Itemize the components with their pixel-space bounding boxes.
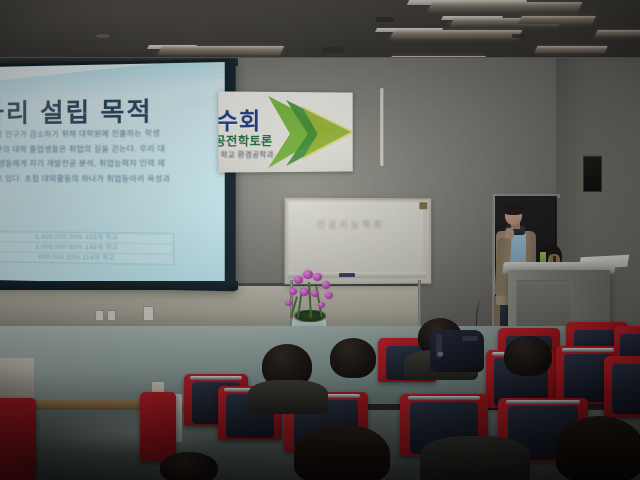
orchid-bloom [303,270,313,279]
orchid-bloom [285,300,292,306]
ceiling-light-fixture [594,30,640,37]
whiteboard-writing: 인공지능학회 [317,218,385,231]
ceiling-light-fixture [158,46,284,55]
projection-screen: 동아리 설립 목적 행해고 전공 인구가 감소하기 위해 대학원에 진출하는 학… [0,59,236,292]
audience-head [160,452,218,480]
presenter-hand [505,228,514,239]
orchid-bloom [300,288,309,296]
banner-title: 수회 [218,102,261,137]
ceiling-light-fixture [518,16,596,24]
wall-outlet[interactable] [95,310,104,321]
wall-outlet[interactable] [107,310,116,321]
slide-body-line: 고는 대부분의 대학 졸업생들은 취업의 길을 걷는다. 우리 대 [0,142,223,156]
banner-caption: 학교 환경공학과 [220,149,273,160]
slide-title: 동아리 설립 목적 [0,91,153,130]
wall-switch[interactable] [143,306,154,321]
audience-shoulders [420,436,530,480]
orchid-bloom [318,302,325,308]
presenter-hair [503,202,524,215]
wall-banner: 수회 공전학토론 학교 환경공학과 [218,91,352,172]
orchid-bloom [325,292,333,299]
backpack-strap [462,336,478,341]
banner-subtitle: 공전학토론 [218,132,272,149]
wall-lower-panel [0,286,420,328]
slide-body-line: 로 운영하고 있다. 초점 대외활동의 하나가 취업동아리 육성과 [0,172,223,185]
orchid-bloom [322,281,330,289]
ceiling-light-fixture [390,30,522,39]
banner-support-rod [380,88,384,166]
auditorium-photo: 동아리 설립 목적 행해고 전공 인구가 감소하기 위해 대학원에 진출하는 학… [0,0,640,480]
ceiling-vent [376,17,394,22]
audience-head [330,338,376,378]
orchid-bloom [294,276,303,284]
whiteboard-marker[interactable] [339,273,355,277]
ceiling-vent [322,47,344,53]
orchid-bloom [313,273,322,281]
screen-weight-bar [92,283,114,287]
whiteboard-surface[interactable]: 인공지능학회 [289,202,424,273]
audience-head [504,336,552,376]
projected-slide: 동아리 설립 목적 행해고 전공 인구가 감소하기 위해 대학원에 진출하는 학… [0,62,225,285]
audience-head [294,424,390,480]
slide-body-text: 행해고 전공 인구가 감소하기 위해 대학원에 진출하는 학생 고는 대부분의 … [0,127,223,188]
ceiling-vent [96,34,110,38]
ceiling-light-fixture [534,46,607,53]
slide-table-row: 600,000 20% 114개 학교 [0,252,173,264]
slide-body-line: 행해고 전공 인구가 감소하기 위해 대학원에 진출하는 학생 [0,127,223,142]
projection-screen-bottom-bar [0,281,238,290]
ceiling-vent [512,34,524,38]
whiteboard-corner-clip [419,202,427,209]
ceiling-light-fixture [428,2,583,12]
audience-head [556,416,640,480]
slide-body-line: 행 및 졸업생들에게 자기 개발전공 분석, 취업능력자 인력 제 [0,157,223,170]
slide-table: 1,400,000 20% 315개 학교 1,000,000 60% 145개… [0,231,174,265]
audience-shoulders [248,380,328,414]
orchid-bloom [311,290,319,297]
orchid-bloom [289,288,297,295]
wall-speaker [583,156,602,192]
backpack-buckle [438,352,443,356]
